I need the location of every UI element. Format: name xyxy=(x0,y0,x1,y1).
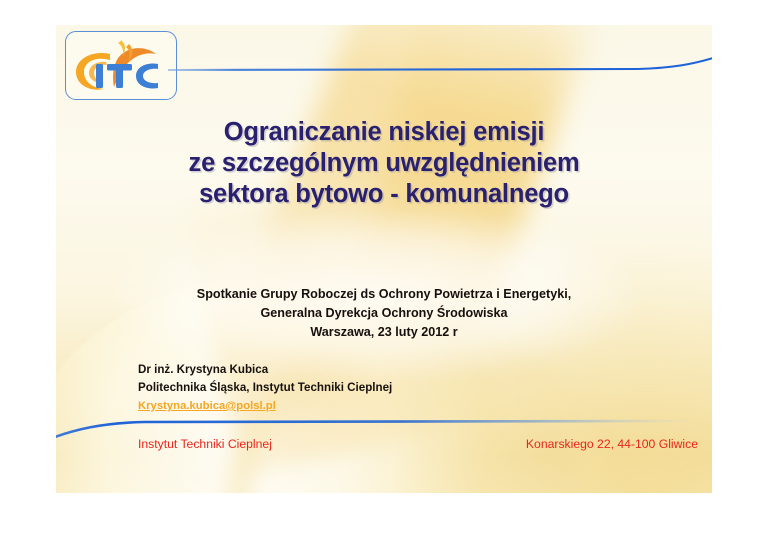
presentation-slide: Ograniczanie niskiej emisji ze szczególn… xyxy=(0,0,768,543)
background-corner-warm xyxy=(352,243,712,493)
slide-canvas: Ograniczanie niskiej emisji ze szczególn… xyxy=(56,25,712,493)
title-line-2: ze szczególnym uwzględnieniem xyxy=(56,148,712,179)
top-divider-line xyxy=(168,55,712,79)
logo-letters xyxy=(96,64,158,89)
footer-institute: Instytut Techniki Cieplnej xyxy=(138,437,272,451)
author-name: Dr inż. Krystyna Kubica xyxy=(138,361,392,379)
slide-title: Ograniczanie niskiej emisji ze szczególn… xyxy=(56,117,712,210)
event-line-meeting: Spotkanie Grupy Roboczej ds Ochrony Powi… xyxy=(56,285,712,304)
slide-footer: Instytut Techniki Cieplnej Konarskiego 2… xyxy=(138,437,698,451)
author-email-link[interactable]: Krystyna.kubica@polsl.pl xyxy=(138,398,276,416)
title-line-3: sektora bytowo - komunalnego xyxy=(56,179,712,210)
event-line-organizer: Generalna Dyrekcja Ochrony Środowiska xyxy=(56,304,712,323)
logo-flame-tip xyxy=(118,40,125,56)
event-info: Spotkanie Grupy Roboczej ds Ochrony Powi… xyxy=(56,285,712,342)
author-affiliation: Politechnika Śląska, Instytut Techniki C… xyxy=(138,379,392,397)
footer-address: Konarskiego 22, 44-100 Gliwice xyxy=(526,437,698,451)
title-line-1: Ograniczanie niskiej emisji xyxy=(56,117,712,148)
event-line-date: Warszawa, 23 luty 2012 r xyxy=(56,323,712,342)
author-info: Dr inż. Krystyna Kubica Politechnika Ślą… xyxy=(138,361,392,416)
itc-logo xyxy=(65,31,177,100)
itc-logo-icon xyxy=(66,32,176,99)
